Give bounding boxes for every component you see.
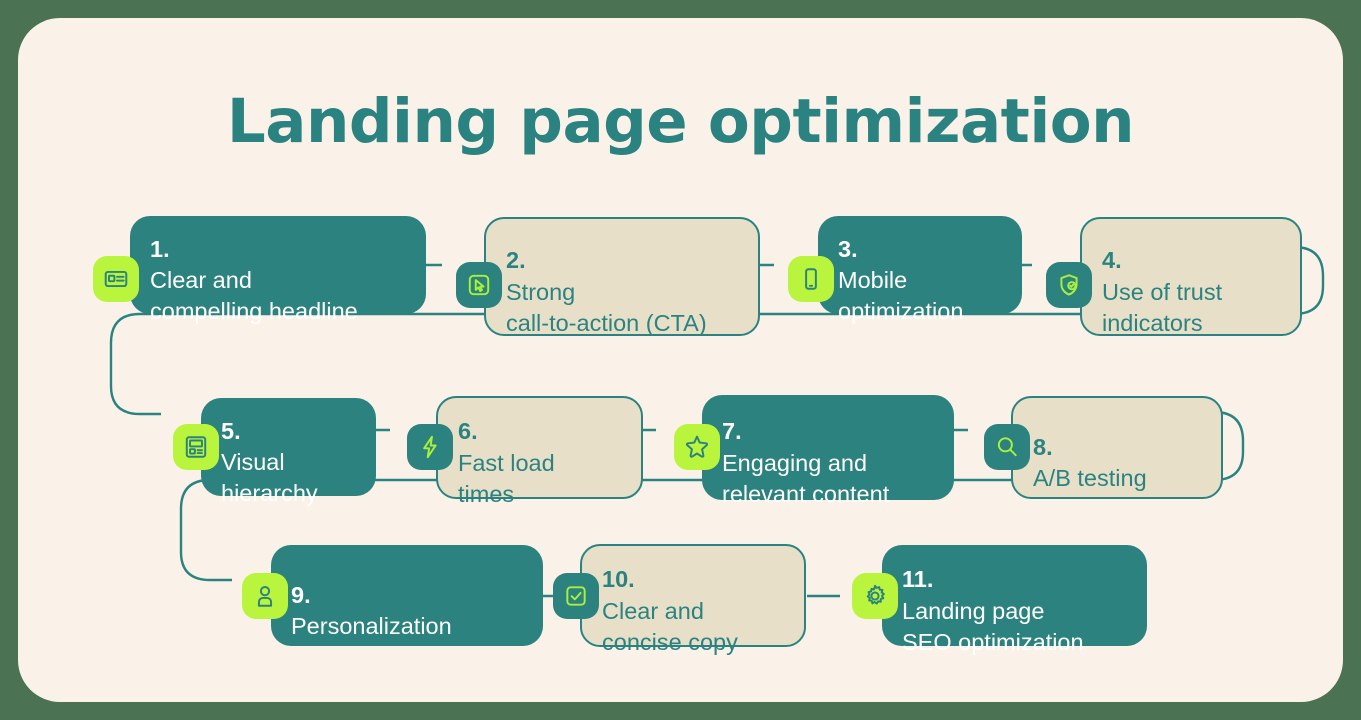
step-icon-badge-5[interactable]: [173, 424, 219, 470]
step-number-8: 8.: [1033, 434, 1053, 460]
step-text-1: Clear and compelling headline: [150, 267, 358, 324]
step-text-10: Clear and concise copy: [602, 598, 738, 655]
step-number-11: 11.: [902, 566, 933, 592]
step-text-3: Mobile optimization: [838, 267, 963, 324]
step-card-5[interactable]: 5. Visual hierarchy: [201, 398, 376, 496]
step-icon-badge-8[interactable]: [984, 424, 1030, 470]
step-text-7: Engaging and relevant content: [722, 450, 889, 507]
step-label-6: 6. Fast load times: [458, 385, 555, 511]
user-person-icon: [252, 583, 278, 609]
step-card-7[interactable]: 7. Engaging and relevant content: [702, 395, 954, 500]
step-card-9[interactable]: 9. Personalization: [271, 545, 543, 646]
page-title: Landing page optimization: [18, 86, 1343, 157]
step-text-6: Fast load times: [458, 450, 555, 507]
step-card-4[interactable]: 4. Use of trust indicators: [1080, 217, 1302, 336]
step-card-2[interactable]: 2. Strong call-to-action (CTA): [484, 217, 760, 336]
step-icon-badge-10[interactable]: [553, 573, 599, 619]
step-icon-badge-2[interactable]: [456, 262, 502, 308]
step-text-11: Landing page SEO optimization: [902, 598, 1084, 655]
step-label-10: 10. Clear and concise copy: [602, 533, 738, 659]
step-number-10: 10.: [602, 566, 635, 592]
step-number-9: 9.: [291, 582, 311, 608]
step-label-9: 9. Personalization: [291, 548, 452, 642]
layout-wireframe-icon: [183, 434, 209, 460]
step-icon-badge-9[interactable]: [242, 573, 288, 619]
step-card-3[interactable]: 3. Mobile optimization: [818, 216, 1022, 314]
step-number-5: 5.: [221, 418, 241, 444]
lightning-bolt-icon: [417, 434, 443, 460]
step-number-1: 1.: [150, 236, 170, 262]
step-number-2: 2.: [506, 247, 526, 273]
step-label-11: 11. Landing page SEO optimization: [902, 533, 1084, 659]
step-label-2: 2. Strong call-to-action (CTA): [506, 214, 707, 340]
gear-icon: [862, 583, 888, 609]
step-text-5: Visual hierarchy: [221, 449, 318, 506]
shield-check-icon: [1056, 272, 1082, 298]
step-icon-badge-6[interactable]: [407, 424, 453, 470]
step-number-3: 3.: [838, 236, 858, 262]
step-label-1: 1. Clear and compelling headline: [150, 202, 358, 328]
cursor-pointer-icon: [466, 272, 492, 298]
step-text-9: Personalization: [291, 613, 452, 639]
step-icon-badge-4[interactable]: [1046, 262, 1092, 308]
step-icon-badge-3[interactable]: [788, 256, 834, 302]
step-card-8[interactable]: 8. A/B testing: [1011, 396, 1223, 499]
step-card-1[interactable]: 1. Clear and compelling headline: [130, 216, 426, 314]
step-card-11[interactable]: 11. Landing page SEO optimization: [882, 545, 1147, 646]
star-icon: [684, 434, 710, 460]
step-number-7: 7.: [722, 418, 742, 444]
step-label-7: 7. Engaging and relevant content: [722, 385, 889, 511]
step-label-5: 5. Visual hierarchy: [221, 384, 318, 510]
step-card-10[interactable]: 10. Clear and concise copy: [580, 544, 806, 647]
step-icon-badge-1[interactable]: [93, 256, 139, 302]
step-icon-badge-7[interactable]: [674, 424, 720, 470]
step-label-8: 8. A/B testing: [1033, 400, 1147, 494]
step-label-3: 3. Mobile optimization: [838, 202, 963, 328]
step-number-6: 6.: [458, 418, 478, 444]
step-label-4: 4. Use of trust indicators: [1102, 214, 1222, 340]
step-text-2: Strong call-to-action (CTA): [506, 279, 707, 336]
step-text-8: A/B testing: [1033, 465, 1147, 491]
step-text-4: Use of trust indicators: [1102, 279, 1222, 336]
infographic-canvas: Landing page optimization 1. Clear and c…: [18, 18, 1343, 702]
step-icon-badge-11[interactable]: [852, 573, 898, 619]
step-number-4: 4.: [1102, 247, 1122, 273]
step-card-6[interactable]: 6. Fast load times: [436, 396, 643, 499]
checkbox-check-icon: [563, 583, 589, 609]
mobile-phone-icon: [798, 266, 824, 292]
id-card-icon: [103, 266, 129, 292]
magnifier-icon: [994, 434, 1020, 460]
